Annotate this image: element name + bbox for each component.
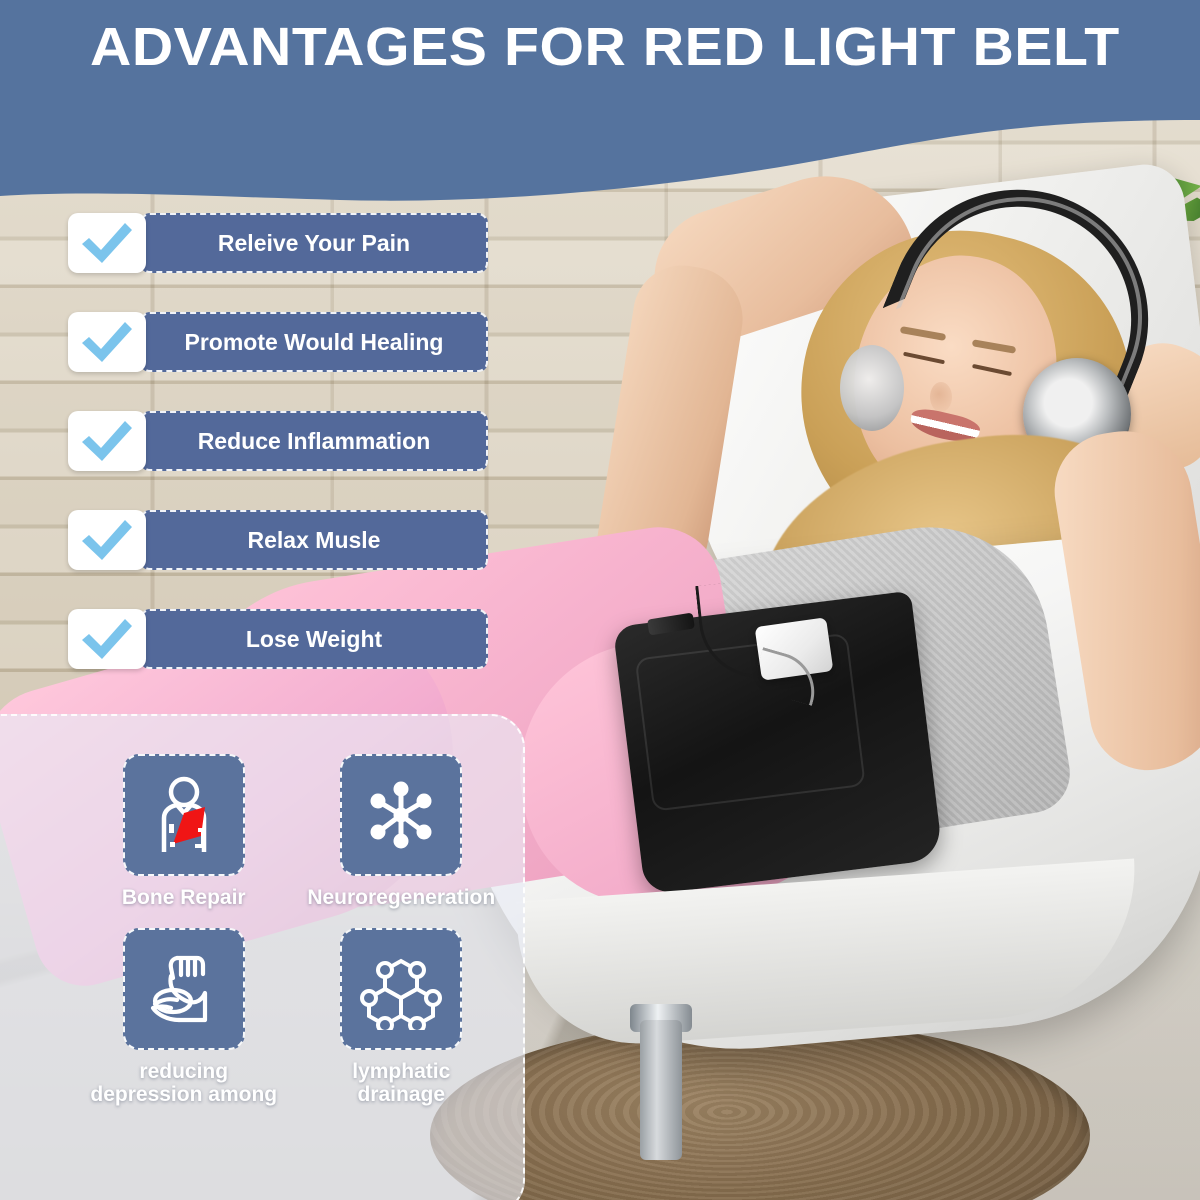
benefit-label: Reduce Inflammation xyxy=(140,411,488,471)
person-arm-sling-icon xyxy=(123,754,245,876)
benefit-label: Relax Musle xyxy=(140,510,488,570)
benefit-label: Promote Would Healing xyxy=(140,312,488,372)
feature-icon-panel: Bone Repair xyxy=(0,714,525,1200)
feature-icon-grid: Bone Repair xyxy=(2,742,523,1107)
product-advantages-poster: ADVANTAGES FOR RED LIGHT BELT Releive Yo… xyxy=(0,0,1200,1200)
benefit-row[interactable]: Reduce Inflammation xyxy=(68,411,488,471)
benefit-list: Releive Your Pain Promote Would Healing … xyxy=(68,213,488,708)
page-title: ADVANTAGES FOR RED LIGHT BELT xyxy=(90,18,1161,76)
woman-nose xyxy=(930,382,952,412)
benefit-row[interactable]: Releive Your Pain xyxy=(68,213,488,273)
feature-caption: reducing depression among xyxy=(89,1060,279,1107)
checkmark-icon xyxy=(68,213,146,273)
feature-item-bone-repair[interactable]: Bone Repair xyxy=(80,754,288,910)
feature-item-reducing-depression[interactable]: reducing depression among xyxy=(80,928,288,1107)
feature-caption: Bone Repair xyxy=(122,886,246,910)
benefit-label: Releive Your Pain xyxy=(140,213,488,273)
checkmark-icon xyxy=(68,510,146,570)
benefit-row[interactable]: Relax Musle xyxy=(68,510,488,570)
chair-pedestal xyxy=(640,1020,682,1160)
benefit-label: Lose Weight xyxy=(140,609,488,669)
checkmark-icon xyxy=(68,609,146,669)
benefit-row[interactable]: Lose Weight xyxy=(68,609,488,669)
checkmark-icon xyxy=(68,411,146,471)
feature-item-neuroregeneration[interactable]: Neuroregeneration xyxy=(298,754,506,910)
feature-caption: lymphatic drainage xyxy=(306,1060,496,1107)
headphone-earcup-left xyxy=(840,345,904,431)
flexed-bicep-icon xyxy=(123,928,245,1050)
checkmark-icon xyxy=(68,312,146,372)
benefit-row[interactable]: Promote Would Healing xyxy=(68,312,488,372)
molecule-hexagon-icon xyxy=(340,928,462,1050)
neuron-network-icon xyxy=(340,754,462,876)
feature-item-lymphatic-drainage[interactable]: lymphatic drainage xyxy=(298,928,506,1107)
feature-caption: Neuroregeneration xyxy=(307,886,495,910)
